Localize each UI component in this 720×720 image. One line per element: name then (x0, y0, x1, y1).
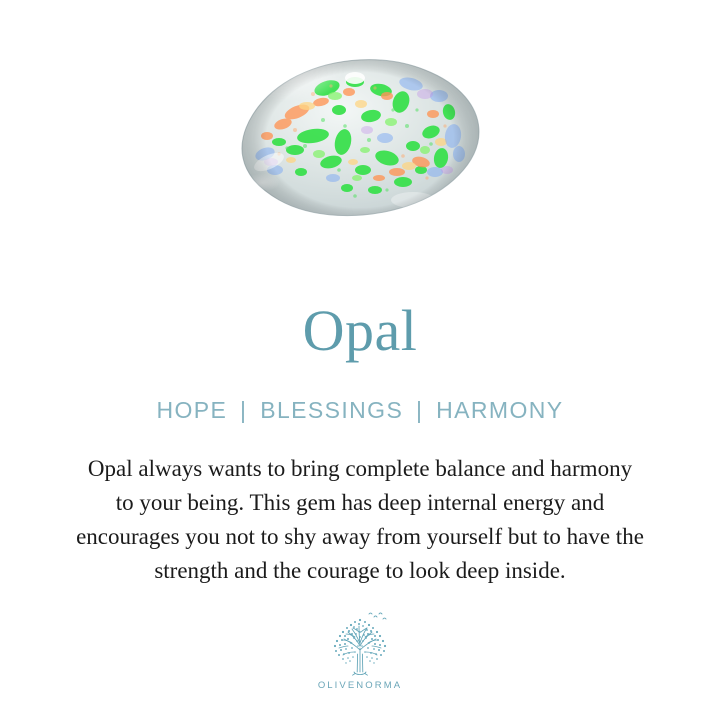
description-line: encourages you not to shy away from your… (18, 520, 702, 554)
description-line: Opal always wants to bring complete bala… (18, 452, 702, 486)
brand-name: OLIVENORMA (318, 680, 402, 691)
page-title: Opal (0, 296, 720, 366)
description-line: to your being. This gem has deep interna… (18, 486, 702, 520)
tree-icon (324, 610, 396, 678)
keyword-list: HOPE | BLESSINGS | HARMONY (0, 396, 720, 424)
gemstone-image (0, 0, 720, 280)
keyword-harmony: HARMONY (436, 397, 563, 423)
opal-cabochon-icon (235, 50, 485, 230)
keyword-separator: | (411, 397, 428, 423)
keyword-blessings: BLESSINGS (260, 397, 403, 423)
brand-logo[interactable]: OLIVENORMA (0, 610, 720, 691)
gemstone-info-card: Opal HOPE | BLESSINGS | HARMONY Opal alw… (0, 0, 720, 720)
description-line: strength and the courage to look deep in… (18, 554, 702, 588)
keyword-hope: HOPE (156, 397, 227, 423)
description-text: Opal always wants to bring complete bala… (18, 452, 702, 588)
keyword-separator: | (235, 397, 252, 423)
